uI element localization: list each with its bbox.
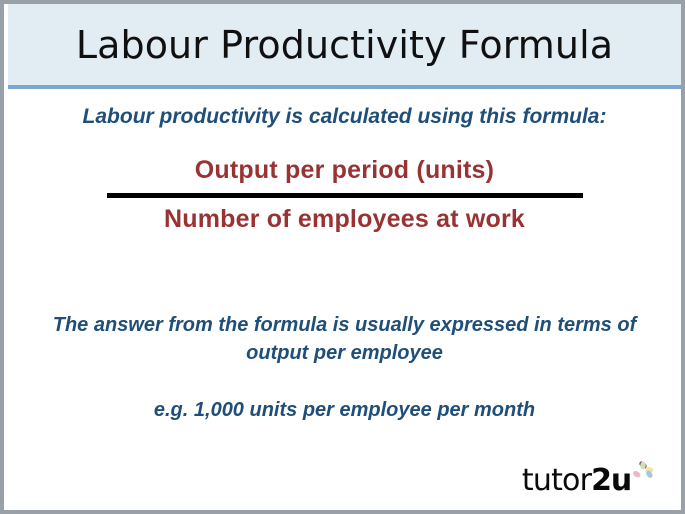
intro-text: Labour productivity is calculated using … (8, 105, 681, 128)
slide: Labour Productivity Formula Labour produ… (0, 0, 685, 514)
formula-block: Output per period (units) Number of empl… (8, 155, 681, 236)
slide-body: Labour productivity is calculated using … (8, 93, 681, 514)
example-text: e.g. 1,000 units per employee per month (8, 399, 681, 421)
flower-icon (632, 461, 654, 483)
fraction-bar (107, 193, 583, 198)
tutor2u-logo: tutor2u (522, 466, 654, 496)
formula-numerator: Output per period (units) (8, 155, 681, 186)
logo-text-light: tutor (522, 463, 591, 498)
formula-denominator: Number of employees at work (8, 204, 681, 235)
explanation-text: The answer from the formula is usually e… (30, 311, 659, 368)
page-title: Labour Productivity Formula (76, 26, 613, 64)
slide-title-band: Labour Productivity Formula (8, 4, 681, 89)
logo-text-bold: 2u (591, 463, 631, 498)
logo-wordmark: tutor2u (522, 466, 631, 496)
